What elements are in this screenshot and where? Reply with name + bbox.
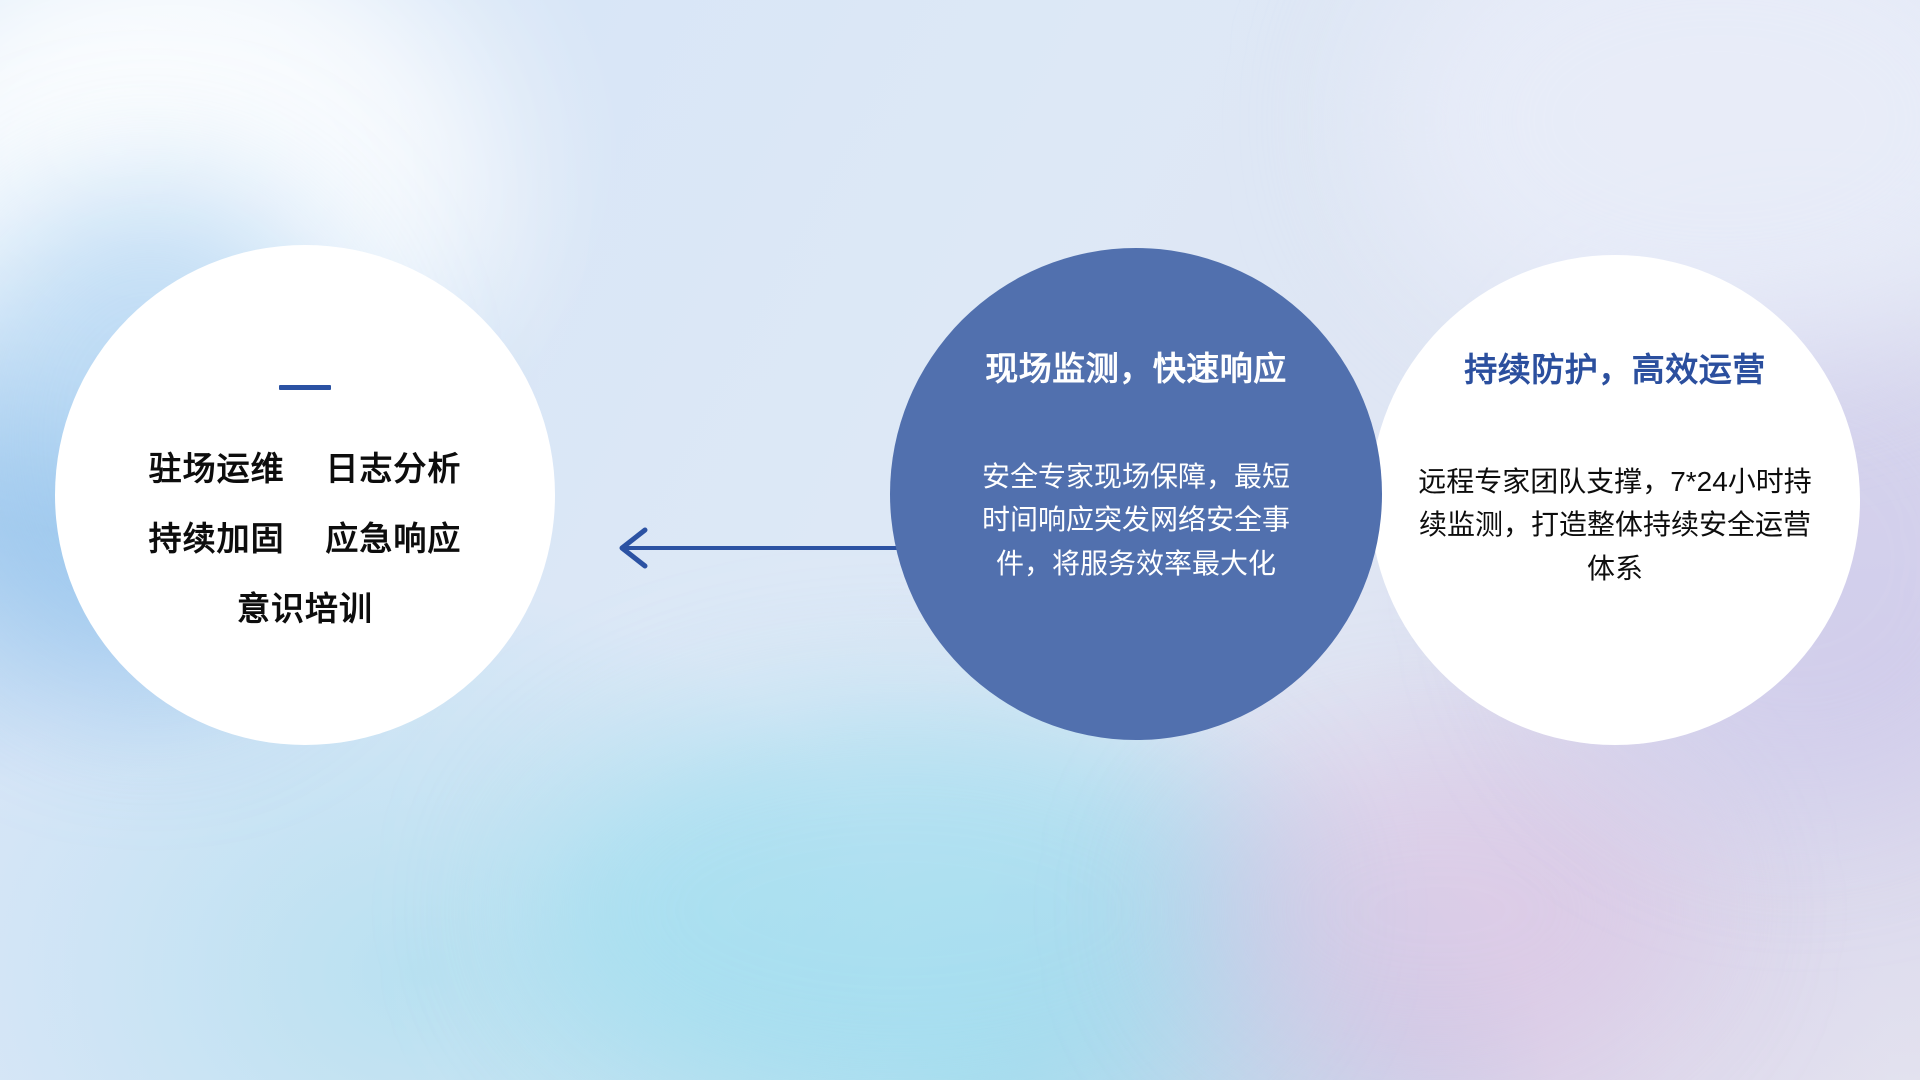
divider-dash bbox=[279, 385, 331, 390]
continuous-protection-circle[interactable]: 持续防护，高效运营 远程专家团队支撑，7*24小时持续监测，打造整体持续安全运营… bbox=[1370, 255, 1860, 745]
onsite-monitoring-title: 现场监测，快速响应 bbox=[985, 352, 1287, 387]
capability-circle-left[interactable]: 驻场运维 日志分析 持续加固 应急响应 意识培训 bbox=[55, 245, 555, 745]
background-glow-bottom-center bbox=[520, 700, 1280, 1080]
capability-line-2: 持续加固 应急响应 bbox=[149, 522, 462, 555]
capability-line-3: 意识培训 bbox=[237, 592, 373, 625]
onsite-monitoring-circle[interactable]: 现场监测，快速响应 安全专家现场保障，最短时间响应突发网络安全事件，将服务效率最… bbox=[890, 248, 1382, 740]
slide-canvas: 驻场运维 日志分析 持续加固 应急响应 意识培训 现场监测，快速响应 安全专家现… bbox=[0, 0, 1920, 1080]
background-glow-bottom-right bbox=[1180, 740, 1700, 1080]
arrow-left-icon bbox=[600, 520, 900, 576]
continuous-protection-body: 远程专家团队支撑，7*24小时持续监测，打造整体持续安全运营体系 bbox=[1415, 460, 1815, 591]
continuous-protection-title: 持续防护，高效运营 bbox=[1464, 353, 1766, 388]
capability-line-1: 驻场运维 日志分析 bbox=[149, 452, 462, 485]
onsite-monitoring-body: 安全专家现场保障，最短时间响应突发网络安全事件，将服务效率最大化 bbox=[971, 455, 1301, 586]
